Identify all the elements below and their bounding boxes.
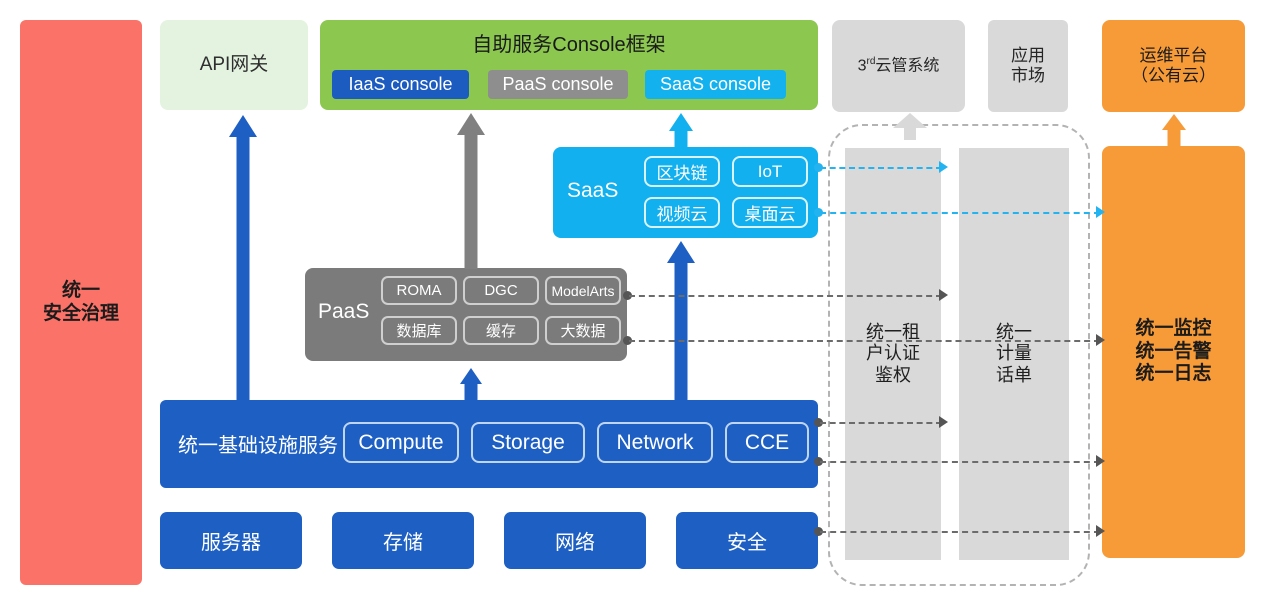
app-market-label: 应用 市场 xyxy=(1011,46,1045,86)
paas-layer-box[interactable]: PaaS ROMA DGC ModelArts 数据库 缓存 大数据 xyxy=(305,268,627,361)
connector-paas-to-ops xyxy=(629,340,1100,342)
arrow-saas-to-saas-console xyxy=(653,113,709,150)
connector-paas-to-auth xyxy=(629,295,942,297)
ops-monitoring-label: 统一监控 统一告警 统一日志 xyxy=(1135,318,1211,385)
unified-security-governance-panel[interactable]: 统一 安全治理 xyxy=(20,20,142,585)
unified-metering-billing-column[interactable]: 统一 计量 话单 xyxy=(959,148,1069,560)
arrow-infra-to-paas xyxy=(443,368,499,401)
iaas-console-pill[interactable]: IaaS console xyxy=(332,70,469,99)
saas-service-video-cloud[interactable]: 视频云 xyxy=(644,197,720,228)
connector-infra-to-auth xyxy=(820,422,942,424)
api-gateway-label: API网关 xyxy=(200,54,269,76)
connector-arrow-security-ops xyxy=(1096,525,1105,537)
third-party-cloud-rest: 云管系统 xyxy=(875,57,939,74)
infra-service-compute[interactable]: Compute xyxy=(343,422,459,463)
paas-service-modelarts[interactable]: ModelArts xyxy=(545,276,621,305)
connector-security-to-ops xyxy=(820,531,1100,533)
connector-arrow-infra-ops xyxy=(1096,455,1105,467)
paas-service-dgc[interactable]: DGC xyxy=(463,276,539,305)
arrow-paas-to-console xyxy=(443,113,499,269)
infra-service-network[interactable]: Network xyxy=(597,422,713,463)
infra-service-storage[interactable]: Storage xyxy=(471,422,585,463)
self-service-console-frame[interactable]: 自助服务Console框架 IaaS console PaaS console … xyxy=(320,20,818,110)
app-market-box[interactable]: 应用 市场 xyxy=(988,20,1068,112)
ops-monitoring-column[interactable]: 统一监控 统一告警 统一日志 xyxy=(1102,146,1245,558)
paas-layer-label: PaaS xyxy=(318,300,369,324)
paas-service-bigdata[interactable]: 大数据 xyxy=(545,316,621,345)
connector-arrow-paas-ops xyxy=(1096,334,1105,346)
connector-saas-to-ops xyxy=(820,212,1100,214)
resource-box-server[interactable]: 服务器 xyxy=(160,512,302,569)
saas-service-desktop-cloud[interactable]: 桌面云 xyxy=(732,197,808,228)
third-party-cloud-label: 3rd云管系统 xyxy=(858,56,940,76)
unified-infrastructure-bar[interactable]: 统一基础设施服务 Compute Storage Network CCE xyxy=(160,400,818,488)
connector-arrow-saas-ops xyxy=(1096,206,1105,218)
arrow-infra-to-api-gateway xyxy=(215,115,271,400)
resource-box-network[interactable]: 网络 xyxy=(504,512,646,569)
connector-saas-to-auth xyxy=(820,167,942,169)
api-gateway-box[interactable]: API网关 xyxy=(160,20,308,110)
saas-service-blockchain[interactable]: 区块链 xyxy=(644,156,720,187)
unified-tenant-auth-column[interactable]: 统一租 户认证 鉴权 xyxy=(845,148,941,560)
third-party-cloud-management-box[interactable]: 3rd云管系统 xyxy=(832,20,965,112)
paas-service-database[interactable]: 数据库 xyxy=(381,316,457,345)
arrow-into-third-party-cloud xyxy=(882,113,938,140)
unified-tenant-auth-label: 统一租 户认证 鉴权 xyxy=(866,322,920,386)
arrow-ops-column-to-ops-platform xyxy=(1146,114,1202,147)
saas-layer-box[interactable]: SaaS 区块链 IoT 视频云 桌面云 xyxy=(553,147,818,238)
connector-arrow-paas-auth xyxy=(939,289,948,301)
unified-infrastructure-label: 统一基础设施服务 xyxy=(178,429,338,458)
paas-service-roma[interactable]: ROMA xyxy=(381,276,457,305)
resource-box-storage[interactable]: 存储 xyxy=(332,512,474,569)
ops-platform-public-cloud-label: 运维平台 （公有云） xyxy=(1131,46,1216,86)
unified-security-governance-label: 统一 安全治理 xyxy=(43,280,119,325)
connector-arrow-saas-auth xyxy=(939,161,948,173)
connector-arrow-infra-auth xyxy=(939,416,948,428)
architecture-diagram: 统一 安全治理 API网关 自助服务Console框架 IaaS console… xyxy=(0,0,1265,605)
saas-service-iot[interactable]: IoT xyxy=(732,156,808,187)
ops-platform-public-cloud-box[interactable]: 运维平台 （公有云） xyxy=(1102,20,1245,112)
infra-service-cce[interactable]: CCE xyxy=(725,422,809,463)
paas-service-cache[interactable]: 缓存 xyxy=(463,316,539,345)
arrow-infra-to-saas xyxy=(653,241,709,401)
resource-box-security[interactable]: 安全 xyxy=(676,512,818,569)
saas-console-pill[interactable]: SaaS console xyxy=(645,70,786,99)
unified-metering-billing-label: 统一 计量 话单 xyxy=(996,322,1032,386)
paas-console-pill[interactable]: PaaS console xyxy=(488,70,628,99)
connector-infra-to-ops xyxy=(820,461,1100,463)
saas-layer-label: SaaS xyxy=(567,179,618,203)
console-frame-title: 自助服务Console框架 xyxy=(320,28,818,57)
